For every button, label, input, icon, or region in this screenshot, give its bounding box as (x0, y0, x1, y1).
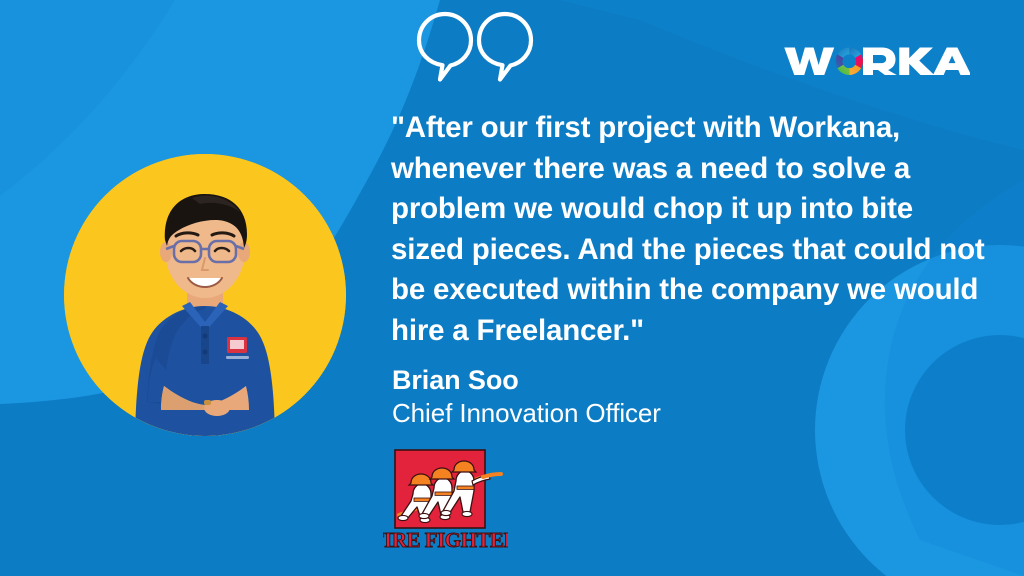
double-quote-bubbles-icon (414, 8, 536, 88)
portrait-button-top (203, 334, 208, 339)
avatar (64, 154, 346, 436)
portrait-watch (204, 400, 211, 405)
workana-logo-svg (783, 40, 971, 80)
quote-bubble-left (419, 14, 471, 80)
workana-o-ring (835, 48, 862, 76)
portrait-illustration (64, 154, 346, 436)
firefighter-hose-tail (483, 474, 501, 477)
quote-mark-icon (414, 8, 536, 88)
portrait-button-bottom (203, 350, 208, 355)
testimonial-card: WORKANA (0, 0, 1024, 576)
workana-wordmark (784, 48, 970, 76)
firefighter-logo-svg: FIRE FIGHTER (383, 449, 508, 554)
portrait-ear-left (160, 242, 172, 262)
portrait-placket (201, 326, 209, 364)
quote-bubble-right (479, 14, 531, 80)
author-name: Brian Soo (392, 365, 519, 396)
workana-logo[interactable]: WORKANA (783, 40, 971, 80)
author-role: Chief Innovation Officer (392, 398, 661, 429)
firefighter-wordmark: FIRE FIGHTER (383, 528, 508, 552)
firefighter-logo: FIRE FIGHTER (383, 449, 508, 554)
quote-text: "After our first project with Workana, w… (391, 108, 986, 351)
